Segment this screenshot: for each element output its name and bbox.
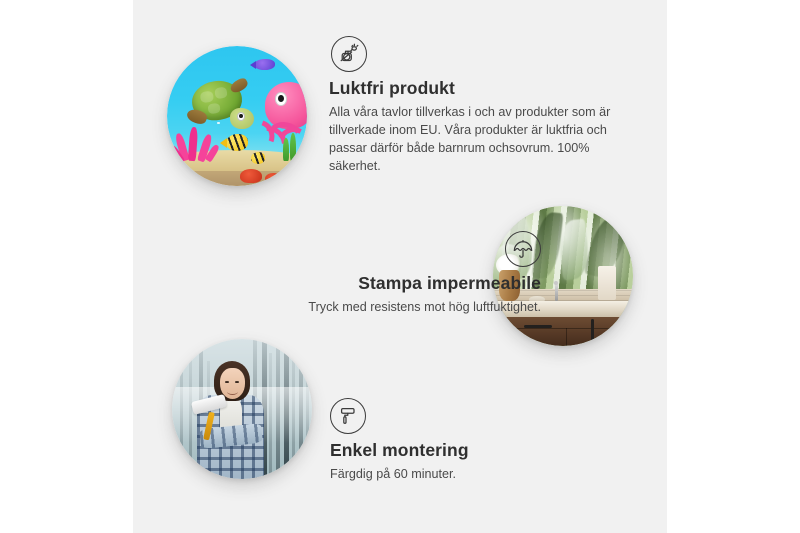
feature-waterproof-icon-row [211, 231, 541, 267]
paint-roller-icon [330, 398, 366, 434]
feature-waterproof-body: Tryck med resistens mot hög luftfuktighe… [211, 298, 541, 316]
feature-odour-icon-row [329, 36, 621, 72]
shell [265, 173, 282, 184]
feature-odour-free: Luktfri produkt Alla våra tavlor tillver… [329, 36, 621, 176]
sea-floor-strip [167, 171, 307, 186]
faucet [555, 284, 559, 301]
content-panel: Luktfri produkt Alla våra tavlor tillver… [133, 0, 667, 533]
umbrella-icon [505, 231, 541, 267]
feature-odour-body: Alla våra tavlor tillverkas i och av pro… [329, 103, 621, 176]
wooden-vanity-cabinet [493, 317, 633, 346]
photo-underwater-inner [167, 46, 307, 186]
feature-waterproof: Stampa impermeabile Tryck med resistens … [211, 231, 541, 316]
feature-mounting-body: Färgdig på 60 minuter. [330, 465, 622, 483]
feature-odour-title: Luktfri produkt [329, 78, 621, 99]
seaweed [283, 138, 289, 160]
crab [240, 169, 262, 183]
fish-striped-small [251, 152, 265, 163]
feature-mounting-title: Enkel montering [330, 440, 622, 461]
photo-woman-paint-roller-forest[interactable] [172, 339, 312, 479]
fish-striped [226, 134, 248, 151]
cabinet-handle [591, 319, 594, 341]
feature-easy-mounting: Enkel montering Färgdig på 60 minuter. [330, 398, 622, 483]
photo-forest-inner [172, 339, 312, 479]
page-root: Luktfri produkt Alla våra tavlor tillver… [0, 0, 800, 533]
no-odour-spray-bottle-icon [331, 36, 367, 72]
seaweed [290, 133, 296, 161]
drawer-handle [524, 325, 552, 328]
fish-striped-tail [220, 138, 227, 148]
photo-underwater-kids-scene[interactable] [167, 46, 307, 186]
feature-mounting-icon-row [330, 398, 622, 434]
woman-smile [227, 388, 238, 395]
rolled-towel [598, 266, 616, 300]
feature-waterproof-title: Stampa impermeabile [211, 273, 541, 294]
fish-blue [254, 59, 275, 70]
fish-blue-tail [250, 61, 256, 69]
